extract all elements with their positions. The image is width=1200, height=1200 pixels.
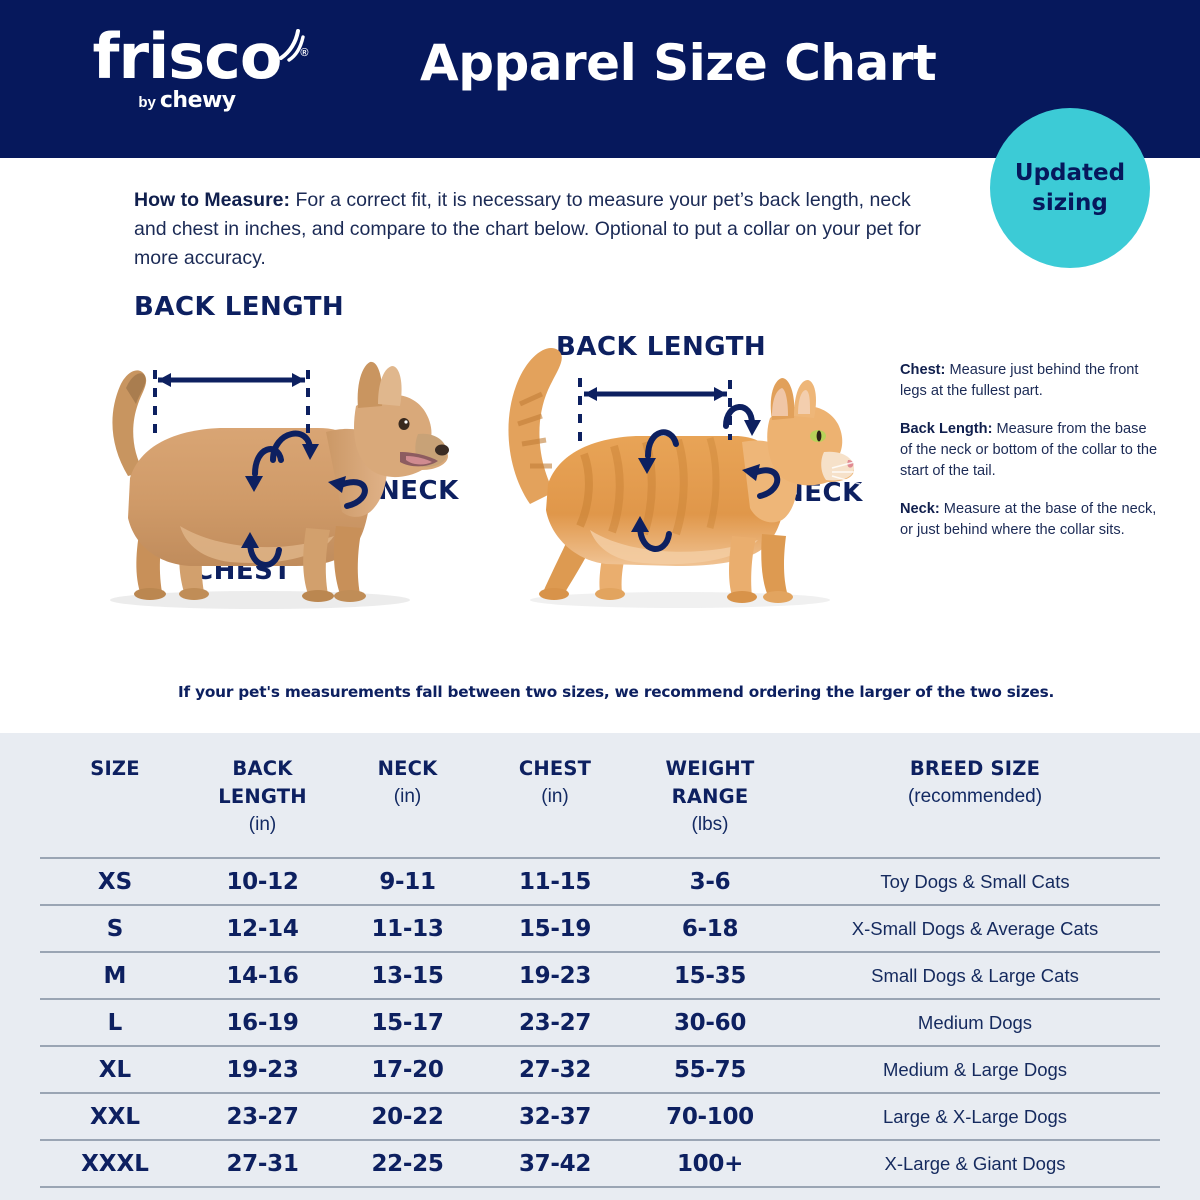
weight-range-value: 15-35 <box>630 952 790 999</box>
back-length-value: 27-31 <box>190 1140 335 1187</box>
breed-size-value: Medium Dogs <box>790 999 1160 1046</box>
column-header-neck-unit: (in) <box>335 783 480 811</box>
column-header-weight-range: WEIGHT RANGE (lbs) <box>630 733 790 858</box>
size-table-head: SIZE BACK LENGTH (in) NECK (in) CHEST (i… <box>40 733 1160 858</box>
table-row: XS10-129-1111-153-6Toy Dogs & Small Cats <box>40 858 1160 905</box>
weight-range-value: 55-75 <box>630 1046 790 1093</box>
table-row: S12-1411-1315-196-18X-Small Dogs & Avera… <box>40 905 1160 952</box>
chest-value: 27-32 <box>480 1046 630 1093</box>
neck-value: 9-11 <box>335 858 480 905</box>
logo-wordmark: frisco ® <box>92 22 281 92</box>
table-row: XL19-2317-2027-3255-75Medium & Large Dog… <box>40 1046 1160 1093</box>
chest-value: 15-19 <box>480 905 630 952</box>
neck-value: 15-17 <box>335 999 480 1046</box>
size-value: M <box>40 952 190 999</box>
measurement-definitions: Chest: Measure just behind the front leg… <box>900 360 1162 558</box>
size-table-body: XS10-129-1111-153-6Toy Dogs & Small Cats… <box>40 858 1160 1187</box>
definition-neck-term: Neck: <box>900 501 940 517</box>
column-header-chest-unit: (in) <box>480 783 630 811</box>
breed-size-value: Large & X-Large Dogs <box>790 1093 1160 1140</box>
table-header-row: SIZE BACK LENGTH (in) NECK (in) CHEST (i… <box>40 733 1160 858</box>
column-header-weight-range-unit: (lbs) <box>630 811 790 839</box>
neck-value: 11-13 <box>335 905 480 952</box>
table-row: XXL23-2720-2232-3770-100Large & X-Large … <box>40 1093 1160 1140</box>
table-row: L16-1915-1723-2730-60Medium Dogs <box>40 999 1160 1046</box>
weight-range-value: 100+ <box>630 1140 790 1187</box>
size-chart-page: frisco ® bychewy Apparel Size Chart Upda… <box>0 0 1200 1200</box>
size-value: L <box>40 999 190 1046</box>
size-value: XXL <box>40 1093 190 1140</box>
column-header-neck-label: NECK <box>378 757 438 780</box>
column-header-neck: NECK (in) <box>335 733 480 858</box>
back-length-value: 23-27 <box>190 1093 335 1140</box>
table-row: M14-1613-1519-2315-35Small Dogs & Large … <box>40 952 1160 999</box>
back-length-value: 10-12 <box>190 858 335 905</box>
column-header-breed-size-unit: (recommended) <box>790 783 1160 811</box>
weight-range-value: 6-18 <box>630 905 790 952</box>
badge-line-2: sizing <box>1032 188 1108 218</box>
column-header-weight-range-label: WEIGHT RANGE <box>666 757 755 808</box>
column-header-chest: CHEST (in) <box>480 733 630 858</box>
neck-value: 13-15 <box>335 952 480 999</box>
neck-value: 20-22 <box>335 1093 480 1140</box>
table-row: XXXL27-3122-2537-42100+X-Large & Giant D… <box>40 1140 1160 1187</box>
back-length-value: 14-16 <box>190 952 335 999</box>
size-table: SIZE BACK LENGTH (in) NECK (in) CHEST (i… <box>40 733 1160 1188</box>
dog-photo <box>70 328 450 613</box>
breed-size-value: Small Dogs & Large Cats <box>790 952 1160 999</box>
updated-sizing-badge: Updated sizing <box>990 108 1150 268</box>
definition-back-length: Back Length: Measure from the base of th… <box>900 419 1162 482</box>
definition-back-length-term: Back Length: <box>900 421 992 437</box>
column-header-back-length-label: BACK LENGTH <box>218 757 307 808</box>
definition-chest-term: Chest: <box>900 362 945 378</box>
back-length-value: 19-23 <box>190 1046 335 1093</box>
column-header-back-length-unit: (in) <box>190 811 335 839</box>
between-sizes-note: If your pet's measurements fall between … <box>178 683 1038 701</box>
size-table-section: SIZE BACK LENGTH (in) NECK (in) CHEST (i… <box>0 733 1200 1200</box>
chest-value: 23-27 <box>480 999 630 1046</box>
definition-chest: Chest: Measure just behind the front leg… <box>900 360 1162 402</box>
logo-by-text: by <box>138 94 156 111</box>
size-value: XL <box>40 1046 190 1093</box>
column-header-chest-label: CHEST <box>519 757 591 780</box>
registered-mark: ® <box>300 18 307 88</box>
logo-word-text: frisco <box>92 20 281 93</box>
weight-range-value: 30-60 <box>630 999 790 1046</box>
breed-size-value: X-Large & Giant Dogs <box>790 1140 1160 1187</box>
frisco-logo: frisco ® bychewy <box>62 22 312 134</box>
size-value: S <box>40 905 190 952</box>
badge-line-1: Updated <box>1015 158 1125 188</box>
how-to-measure-lead: How to Measure: <box>134 189 290 211</box>
column-header-breed-size: BREED SIZE (recommended) <box>790 733 1160 858</box>
chest-value: 37-42 <box>480 1140 630 1187</box>
column-header-size: SIZE <box>40 733 190 858</box>
column-header-breed-size-label: BREED SIZE <box>910 757 1040 780</box>
neck-value: 22-25 <box>335 1140 480 1187</box>
definition-neck: Neck: Measure at the base of the neck, o… <box>900 499 1162 541</box>
weight-range-value: 70-100 <box>630 1093 790 1140</box>
cat-photo <box>480 308 880 613</box>
neck-value: 17-20 <box>335 1046 480 1093</box>
back-length-value: 12-14 <box>190 905 335 952</box>
size-value: XS <box>40 858 190 905</box>
weight-range-value: 3-6 <box>630 858 790 905</box>
breed-size-value: Toy Dogs & Small Cats <box>790 858 1160 905</box>
page-title: Apparel Size Chart <box>420 34 1020 92</box>
chest-value: 19-23 <box>480 952 630 999</box>
how-to-measure-paragraph: How to Measure: For a correct fit, it is… <box>134 186 944 273</box>
dog-back-length-label: BACK LENGTH <box>134 292 344 322</box>
column-header-size-label: SIZE <box>90 757 140 780</box>
column-header-back-length: BACK LENGTH (in) <box>190 733 335 858</box>
breed-size-value: X-Small Dogs & Average Cats <box>790 905 1160 952</box>
breed-size-value: Medium & Large Dogs <box>790 1046 1160 1093</box>
size-value: XXXL <box>40 1140 190 1187</box>
back-length-value: 16-19 <box>190 999 335 1046</box>
chest-value: 32-37 <box>480 1093 630 1140</box>
chest-value: 11-15 <box>480 858 630 905</box>
